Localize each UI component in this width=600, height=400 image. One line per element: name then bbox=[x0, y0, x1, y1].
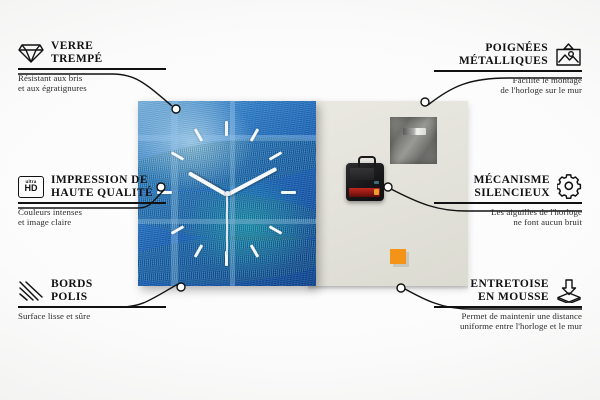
callout-sub-line1: Permet de maintenir une distance bbox=[434, 311, 582, 322]
callout-divider bbox=[434, 202, 582, 204]
callout-title-line1: MÉCANISME bbox=[474, 174, 550, 187]
callout-sub-line1: Couleurs intenses bbox=[18, 207, 166, 218]
callout-verre-trempe: VERRE TREMPÉ Résistant aux bris et aux é… bbox=[18, 40, 166, 94]
ultra-hd-badge-icon: ultra HD bbox=[18, 176, 44, 198]
callout-sub-line2: ne font aucun bruit bbox=[434, 217, 582, 228]
clock-tick bbox=[281, 191, 296, 194]
callout-title-line1: BORDS bbox=[51, 278, 93, 291]
callout-divider bbox=[18, 306, 166, 308]
clock-mechanism bbox=[346, 163, 384, 201]
foam-spacer bbox=[390, 249, 406, 264]
picture-frame-hanger-icon bbox=[555, 43, 582, 67]
callout-title-line2: SILENCIEUX bbox=[474, 187, 550, 200]
clock-tick bbox=[225, 121, 228, 136]
callout-title-line2: HAUTE QUALITÉ bbox=[51, 187, 153, 200]
callout-sub-line1: Surface lisse et sûre bbox=[18, 311, 166, 322]
product-feature-infographic: VERRE TREMPÉ Résistant aux bris et aux é… bbox=[0, 0, 600, 400]
callout-sub-line2: et aux égratignures bbox=[18, 83, 166, 94]
callout-title-line2: POLIS bbox=[51, 291, 93, 304]
metal-hanger-bracket bbox=[390, 117, 437, 164]
callout-divider bbox=[434, 306, 582, 308]
clock-pivot bbox=[225, 191, 230, 196]
callout-divider bbox=[434, 70, 582, 72]
clock-second-hand bbox=[226, 193, 228, 255]
gear-icon bbox=[557, 174, 582, 199]
callout-title-line1: VERRE bbox=[51, 40, 103, 53]
callout-title-line2: MÉTALLIQUES bbox=[459, 55, 548, 68]
callout-sub-line2: uniforme entre l'horloge et le mur bbox=[434, 321, 582, 332]
callout-divider bbox=[18, 68, 166, 70]
product-photo bbox=[138, 101, 468, 286]
mechanism-label bbox=[350, 168, 374, 180]
callout-bords-polis: BORDS POLIS Surface lisse et sûre bbox=[18, 278, 166, 321]
callout-sub-line1: Résistant aux bris bbox=[18, 73, 166, 84]
ultra-hd-badge-main-text: HD bbox=[25, 184, 38, 193]
mechanism-indicator bbox=[374, 181, 379, 184]
callout-sub-line1: Les aiguilles de l'horloge bbox=[434, 207, 582, 218]
diagonal-lines-icon bbox=[18, 280, 44, 302]
callout-mecanisme-silencieux: MÉCANISME SILENCIEUX Les aiguilles de l'… bbox=[434, 174, 582, 228]
mechanism-hanger bbox=[358, 156, 376, 167]
callout-title-line2: EN MOUSSE bbox=[470, 291, 549, 304]
callout-entretoise-en-mousse: ENTRETOISE EN MOUSSE Permet de maintenir… bbox=[434, 278, 582, 332]
callout-sub-line2: et image claire bbox=[18, 217, 166, 228]
callout-title-line1: POIGNÉES bbox=[459, 42, 548, 55]
callout-impression-haute-qualite: ultra HD IMPRESSION DE HAUTE QUALITÉ Cou… bbox=[18, 174, 166, 228]
callout-poignees-metalliques: POIGNÉES MÉTALLIQUES Facilite le montage… bbox=[434, 42, 582, 96]
battery bbox=[349, 188, 380, 197]
callout-sub-line2: de l'horloge sur le mur bbox=[434, 85, 582, 96]
diamond-icon bbox=[18, 42, 44, 64]
callout-title-line1: IMPRESSION DE bbox=[51, 174, 153, 187]
callout-sub-line1: Facilite le montage bbox=[434, 75, 582, 86]
bracket-slot bbox=[403, 128, 426, 135]
callout-title-line1: ENTRETOISE bbox=[470, 278, 549, 291]
callout-divider bbox=[18, 202, 166, 204]
down-arrow-pad-icon bbox=[556, 279, 582, 303]
callout-title-line2: TREMPÉ bbox=[51, 53, 103, 66]
